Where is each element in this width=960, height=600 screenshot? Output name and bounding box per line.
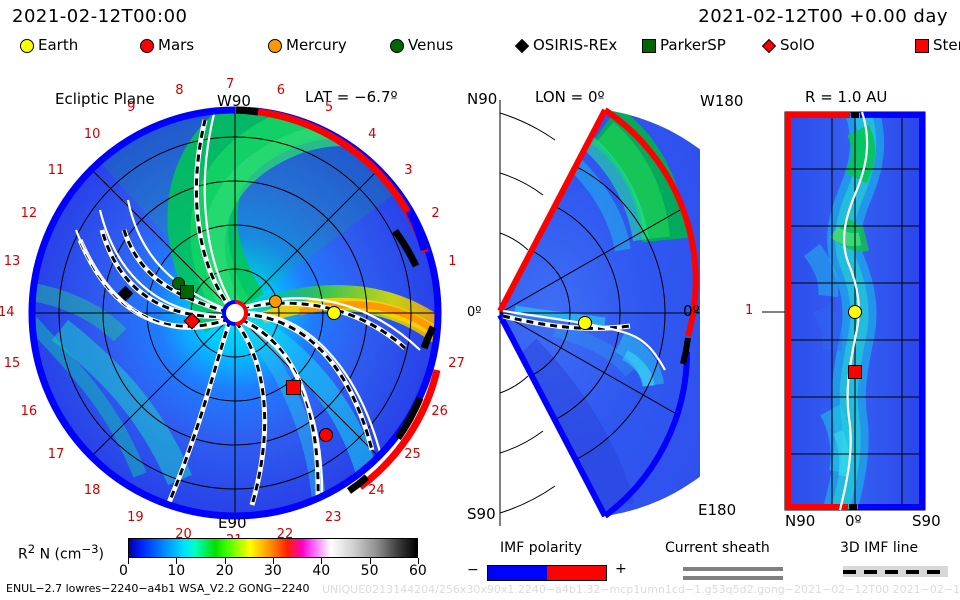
colorbar-tick-label-0: 0 xyxy=(119,563,128,579)
footer-credit: ENUL−2.7 lowres−2240−a4b1 WSA_V2.2 GONG−… xyxy=(6,582,310,595)
mercury-marker[interactable] xyxy=(269,295,282,308)
earth-marker[interactable] xyxy=(578,316,592,330)
colorbar-tick-label-50: 50 xyxy=(361,563,379,579)
legend-label-solo: SolO xyxy=(780,36,815,54)
ecliptic-panel[interactable]: Ecliptic Plane LAT = −6.7º W90 E90 0º123… xyxy=(0,80,460,540)
oneau-panel[interactable]: W180 R = 1.0 AU E180 1 N900ºS90 xyxy=(690,80,960,540)
mars-marker[interactable] xyxy=(319,428,333,442)
meridional-bodies[interactable] xyxy=(455,80,700,540)
footer-watermark: UNIQUE0213144204/256x30x90x1.2240−a4b1.3… xyxy=(322,583,960,596)
imf-negative-swatch xyxy=(487,565,547,581)
osiris-rex-marker[interactable] xyxy=(117,285,133,301)
legend-label-venus: Venus xyxy=(408,36,453,54)
legend-label-osiris-rex: OSIRIS-REx xyxy=(533,36,617,54)
legend-parkersp-marker[interactable] xyxy=(642,39,656,53)
imf-minus-label: − xyxy=(467,562,479,578)
stereo-marker[interactable] xyxy=(848,365,862,379)
colorbar-tick-label-60: 60 xyxy=(409,563,427,579)
colorbar-ticks: 0102030405060 xyxy=(128,558,418,580)
imf-polarity-title: IMF polarity xyxy=(500,540,582,556)
legend-label-mars: Mars xyxy=(158,36,194,54)
legend-label-mercury: Mercury xyxy=(286,36,347,54)
legend-venus-marker[interactable] xyxy=(390,39,404,53)
colorbar-tick-label-30: 30 xyxy=(264,563,282,579)
stereo-marker[interactable] xyxy=(286,380,301,395)
current-sheath-title: Current sheath xyxy=(665,540,770,556)
legend-solo-marker[interactable] xyxy=(762,39,776,53)
legend-osiris-rex-marker[interactable] xyxy=(515,39,529,53)
meridional-panel[interactable]: N90 LON = 0º S90 0º xyxy=(455,80,700,540)
imf-3d-line-title: 3D IMF line xyxy=(840,540,918,556)
imf-plus-label: + xyxy=(615,561,627,577)
colorbar-tick-label-40: 40 xyxy=(312,563,330,579)
earth-marker[interactable] xyxy=(327,306,341,320)
parkersp-marker[interactable] xyxy=(180,285,194,299)
colorbar-tick-label-10: 10 xyxy=(167,563,185,579)
header-right-timestamp: 2021-02-12T00 +0.00 day xyxy=(698,6,948,27)
legend-stereo-marker[interactable] xyxy=(915,39,929,53)
oneau-bodies[interactable] xyxy=(690,80,960,540)
colorbar-tick-label-20: 20 xyxy=(216,563,234,579)
legend-mercury-marker[interactable] xyxy=(268,39,282,53)
colorbar-strip[interactable] xyxy=(128,538,418,558)
imf-3d-line-dashes xyxy=(843,570,948,574)
legend-earth-marker[interactable] xyxy=(20,39,34,53)
current-sheath-line-top xyxy=(683,567,783,571)
solo-marker[interactable] xyxy=(184,313,201,330)
colorbar-tick-mark-0 xyxy=(128,558,129,564)
legend-label-earth: Earth xyxy=(38,36,78,54)
legend-mars-marker[interactable] xyxy=(140,39,154,53)
imf-positive-swatch xyxy=(547,565,607,581)
header-left-timestamp: 2021-02-12T00:00 xyxy=(12,6,187,27)
current-sheath-line-bottom xyxy=(683,576,783,580)
legend-label-stereo: Stereo_ xyxy=(933,36,960,54)
earth-marker[interactable] xyxy=(848,305,862,319)
body-legend: EarthMarsMercuryVenusOSIRIS-RExParkerSPS… xyxy=(10,36,955,60)
colorbar-label: R2 N (cm−3) xyxy=(18,542,104,563)
ecliptic-bodies[interactable] xyxy=(0,80,460,540)
legend-label-parkersp: ParkerSP xyxy=(660,36,726,54)
